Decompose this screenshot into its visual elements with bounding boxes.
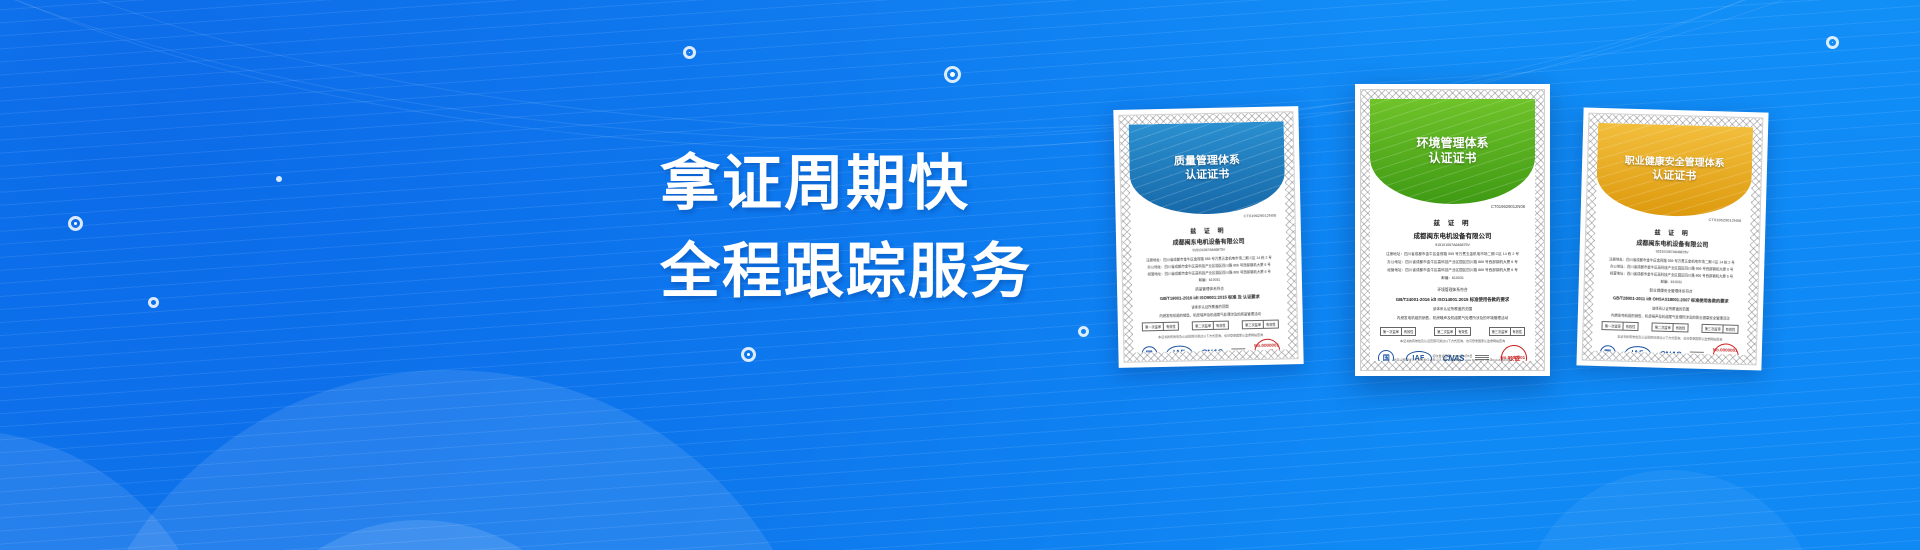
china-cert-icon: 国 bbox=[1599, 345, 1615, 356]
certificate-ohs-scope: 内燃发电机组的销售、机房噪声及机组尾气处理所涉及的职业健康安全管理活动 bbox=[1593, 312, 1748, 321]
certificate-quality-zip: 邮编：610031 bbox=[1132, 275, 1287, 283]
certificate-environment-audit-row: 第一次监审有效性 第二次监审有效性 第三次监审有效性 bbox=[1380, 327, 1525, 336]
audit-1-valid: 有效性 bbox=[1164, 323, 1178, 330]
audit-3-label: 第三次监审 bbox=[1490, 328, 1511, 335]
certificate-ohs-number: CT019629012N06 bbox=[1708, 217, 1741, 223]
headline-line-1: 拿证周期快 bbox=[660, 150, 970, 217]
certificate-group: 质量管理体系 认证证书 CT019629012N06 兹 证 明 成都闽东电机设… bbox=[1110, 60, 1870, 460]
dot-1 bbox=[683, 46, 696, 59]
audit-3-valid: 有效性 bbox=[1264, 321, 1278, 328]
dot-2 bbox=[944, 66, 961, 83]
audit-2-label: 第二次监审 bbox=[1435, 328, 1456, 335]
decorative-circle-1 bbox=[70, 370, 830, 550]
page-title: 拿证周期快 全程跟踪服务 bbox=[660, 140, 1080, 316]
certificate-environment-scope-label: 该体系认证所覆盖的范围 bbox=[1370, 307, 1535, 312]
certificate-ohs-serial: No.0000001 bbox=[1713, 347, 1738, 353]
certificate-ohs-title-2: 认证证书 bbox=[1652, 169, 1696, 184]
certificate-quality-zsm: 兹 证 明 bbox=[1131, 224, 1286, 236]
dot-3 bbox=[1826, 36, 1839, 49]
certificate-environment-scope: 内燃发电机组的销售、机房噪声及机组尾气处理所涉及的环境管理活动 bbox=[1370, 316, 1535, 321]
audit-1-label: 第一次监审 bbox=[1381, 328, 1402, 335]
audit-3-label: 第三次监审 bbox=[1703, 325, 1724, 333]
audit-1-label: 第一次监审 bbox=[1603, 322, 1624, 330]
dot-7 bbox=[1078, 326, 1089, 337]
audit-3-valid: 有效性 bbox=[1724, 326, 1738, 333]
certificate-ohs[interactable]: 职业健康安全管理体系 认证证书 CT019629012N06 兹 证 明 成都闽… bbox=[1576, 107, 1768, 370]
audit-2-valid: 有效性 bbox=[1456, 328, 1470, 335]
cnas-icon: CNAS bbox=[1201, 348, 1223, 353]
audit-1-label: 第一次监审 bbox=[1143, 323, 1164, 330]
certificate-quality-company: 成都闽东电机设备有限公司 bbox=[1131, 235, 1286, 247]
certificate-quality-number: CT019629012N06 bbox=[1244, 213, 1277, 219]
iaf-icon: IAF bbox=[1624, 346, 1650, 355]
accreditation-lines-icon bbox=[1232, 348, 1246, 352]
audit-2-label: 第二次监审 bbox=[1193, 322, 1214, 329]
dot-8 bbox=[276, 176, 282, 182]
certificate-quality-audit-row: 第一次监审有效性 第二次监审有效性 第三次监审有效性 bbox=[1142, 320, 1279, 332]
cnas-icon: CNAS bbox=[1659, 350, 1681, 355]
certificate-environment-zsm: 兹 证 明 bbox=[1370, 217, 1535, 227]
dot-6 bbox=[741, 347, 756, 362]
certificate-quality-title-1: 质量管理体系 bbox=[1174, 154, 1240, 169]
accreditation-lines-icon bbox=[1690, 352, 1704, 355]
headline-line-2: 全程跟踪服务 bbox=[660, 228, 1080, 316]
certificate-quality[interactable]: 质量管理体系 认证证书 CT019629012N06 兹 证 明 成都闽东电机设… bbox=[1113, 106, 1303, 368]
iaf-icon: IAF bbox=[1166, 345, 1192, 352]
certificate-environment-number: CT019629012N06 bbox=[1491, 204, 1525, 209]
certificate-quality-header: 质量管理体系 认证证书 bbox=[1129, 121, 1286, 215]
certificate-quality-scope-label: 该体系认证所覆盖的范围 bbox=[1132, 303, 1287, 311]
audit-2-valid: 有效性 bbox=[1214, 322, 1228, 329]
audit-2-valid: 有效性 bbox=[1674, 324, 1688, 331]
certificate-environment[interactable]: 环境管理体系 认证证书 CT019629012N06 兹 证 明 成都闽东电机设… bbox=[1355, 84, 1550, 376]
certificate-environment-addr2: 办公地址：四川省成都市金牛区高科技产业区园区四川路 866 号西部钢机大厦 6 … bbox=[1370, 260, 1535, 265]
dot-5 bbox=[148, 297, 159, 308]
certificate-environment-company: 成都闽东电机设备有限公司 bbox=[1370, 230, 1535, 240]
certificate-quality-serial: No.0000001 bbox=[1254, 342, 1279, 348]
audit-1-valid: 有效性 bbox=[1402, 328, 1416, 335]
audit-3-label: 第三次监审 bbox=[1243, 321, 1264, 328]
certificate-environment-credit: 915101067A646875V bbox=[1370, 243, 1535, 247]
china-cert-icon: 国 bbox=[1141, 346, 1157, 353]
certificate-environment-title-1: 环境管理体系 bbox=[1416, 136, 1488, 151]
certificate-ohs-audit-row: 第一次监审有效性 第二次监审有效性 第三次监审有效性 bbox=[1602, 321, 1739, 334]
audit-3-valid: 有效性 bbox=[1511, 328, 1525, 335]
certificate-environment-addr3: 经营地址：四川省成都市金牛区高科技产业区园区四川路 866 号西部钢机大厦 6 … bbox=[1370, 268, 1535, 273]
dot-4 bbox=[68, 216, 83, 231]
certificate-environment-system-label: 环境管理体系符合 bbox=[1370, 288, 1535, 293]
certificate-ohs-standard: GB/T28001-2011 idt OHSAS18001:2007 标准使用各… bbox=[1593, 295, 1748, 305]
hero-banner: 拿证周期快 全程跟踪服务 质量管理体系 认证证书 bbox=[0, 0, 1920, 550]
certificate-quality-system-label: 质量管理体系符合 bbox=[1132, 286, 1287, 294]
audit-2-label: 第二次监审 bbox=[1653, 324, 1674, 332]
certificate-quality-scope: 内燃发电机组的销售、机房噪声及机组尾气处理涉及的质量管理活动 bbox=[1133, 311, 1288, 319]
certificate-environment-serial: No.0000001 bbox=[1500, 355, 1525, 360]
decorative-circle-2 bbox=[0, 430, 220, 550]
certificate-quality-standard: GB/T19001-2016 idt ISO9001:2015 标准 及 认证要… bbox=[1132, 293, 1287, 302]
certificate-environment-standard: GB/T24001-2016 idt ISO14001:2015 标准使用各款的… bbox=[1370, 297, 1535, 303]
certificate-environment-addr1: 注册地址：四川省成都市金牛区金府路 555 号万贯五金机电市场二期 C区 14 … bbox=[1370, 252, 1535, 257]
certificate-environment-zip: 邮编：610031 bbox=[1370, 276, 1535, 281]
audit-1-valid: 有效性 bbox=[1624, 323, 1638, 330]
decorative-circle-3 bbox=[230, 520, 610, 550]
decorative-circle-4 bbox=[1520, 470, 1820, 550]
certificate-environment-header: 环境管理体系 认证证书 bbox=[1370, 99, 1535, 204]
certificate-environment-title-2: 认证证书 bbox=[1428, 151, 1476, 166]
certificate-quality-credit: 915101067A646875V bbox=[1131, 247, 1286, 254]
certificate-quality-title-2: 认证证书 bbox=[1185, 168, 1229, 183]
certificate-environment-note: 本证书的有效性及认证范围可通过以下方式查询，也可登录国家认监委网站查询 bbox=[1378, 339, 1527, 343]
certificate-ohs-header: 职业健康安全管理体系 认证证书 bbox=[1596, 123, 1753, 218]
